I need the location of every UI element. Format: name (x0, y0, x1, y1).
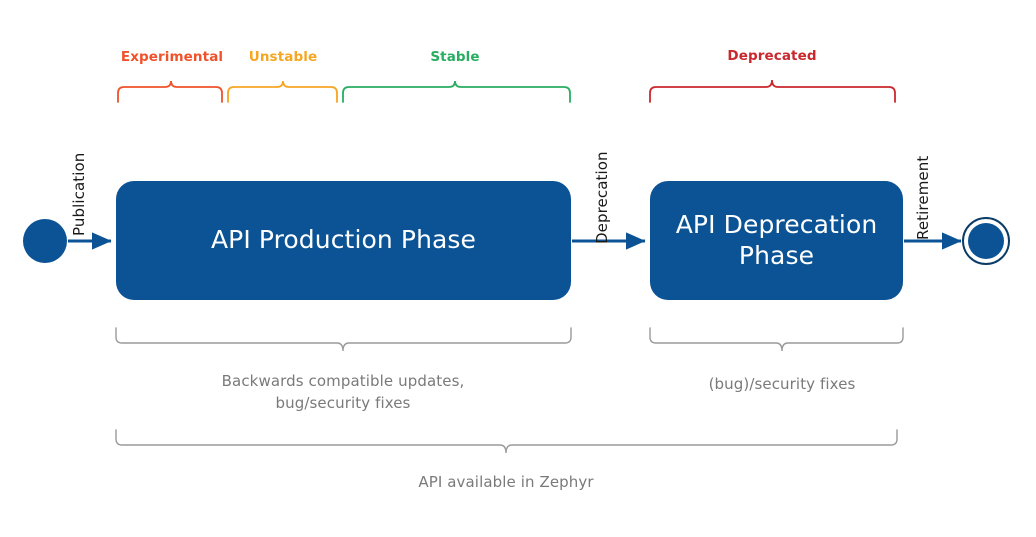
api-production-phase-box[interactable]: API Production Phase (116, 181, 571, 300)
end-node-fill (968, 223, 1004, 259)
stability-label-unstable: Unstable (249, 49, 317, 65)
bracket-api-available (116, 430, 897, 453)
stability-label-experimental: Experimental (121, 49, 223, 65)
transition-label-retirement: Retirement (914, 156, 932, 240)
diagram-canvas: API Production Phase API Deprecation Pha… (0, 0, 1036, 537)
api-production-phase-label: API Production Phase (197, 225, 490, 256)
bracket-production-support (116, 328, 571, 351)
bracket-unstable (228, 81, 337, 102)
support-caption-deprecation: (bug)/security fixes (709, 374, 856, 396)
stability-label-deprecated: Deprecated (727, 48, 816, 64)
support-caption-api-available: API available in Zephyr (418, 472, 593, 494)
transition-label-publication: Publication (70, 153, 88, 236)
bracket-experimental (118, 81, 222, 102)
support-caption-production: Backwards compatible updates, bug/securi… (222, 371, 465, 415)
stability-label-stable: Stable (430, 49, 479, 65)
api-deprecation-phase-box[interactable]: API Deprecation Phase (650, 181, 903, 300)
bracket-deprecation-support (650, 328, 903, 351)
bracket-deprecated (650, 80, 895, 102)
transition-label-deprecation: Deprecation (593, 151, 611, 244)
api-deprecation-phase-label: API Deprecation Phase (662, 210, 892, 271)
start-node (23, 219, 67, 263)
bracket-stable (343, 81, 570, 102)
